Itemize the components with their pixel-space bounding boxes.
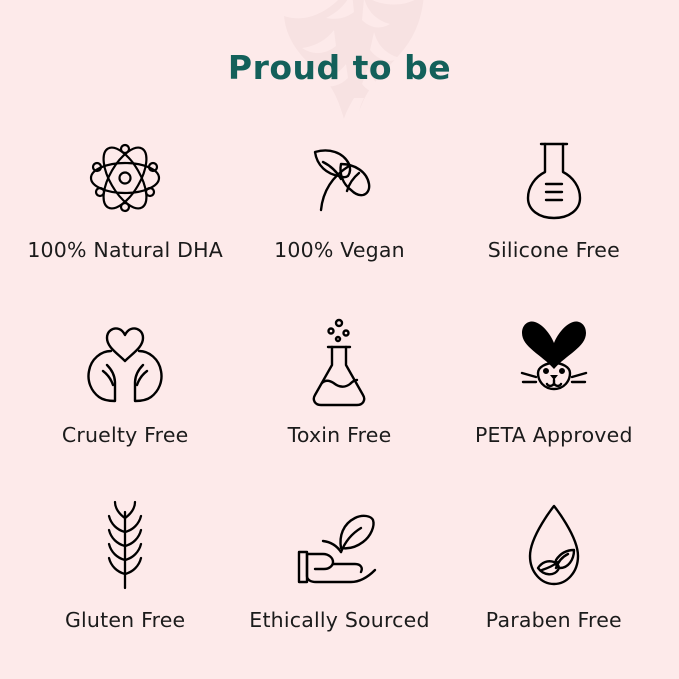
badge-item: PETA Approved [447,311,661,496]
badge-label: 100% Vegan [274,238,405,262]
badge-label: Gluten Free [65,608,185,632]
badge-item: Toxin Free [232,311,446,496]
atom-icon [79,126,171,230]
badge-item: 100% Natural DHA [18,126,232,311]
badge-item: 100% Vegan [232,126,446,311]
badge-label: Paraben Free [486,608,622,632]
badge-label: Ethically Sourced [249,608,429,632]
badge-label: PETA Approved [475,423,633,447]
badge-item: Paraben Free [447,496,661,679]
badge-item: Cruelty Free [18,311,232,496]
wheat-icon [79,496,171,600]
badge-item: Silicone Free [447,126,661,311]
flask-round-icon [508,126,600,230]
badge-label: Silicone Free [488,238,620,262]
page-title: Proud to be [0,48,679,87]
leaf-sprout-icon [293,126,385,230]
badge-item: Ethically Sourced [232,496,446,679]
hands-heart-icon [77,311,173,415]
badge-label: 100% Natural DHA [27,238,223,262]
hand-plant-icon [289,496,389,600]
flask-bubbles-icon [293,311,385,415]
badge-item: Gluten Free [18,496,232,679]
bunny-heart-ears-icon [504,311,604,415]
badge-label: Toxin Free [288,423,392,447]
badge-grid: 100% Natural DHA 100% Vegan [18,126,661,679]
proud-to-be-panel: Proud to be 100% Natural DHA [0,0,679,679]
badge-label: Cruelty Free [62,423,189,447]
water-drop-leaf-icon [508,496,600,600]
